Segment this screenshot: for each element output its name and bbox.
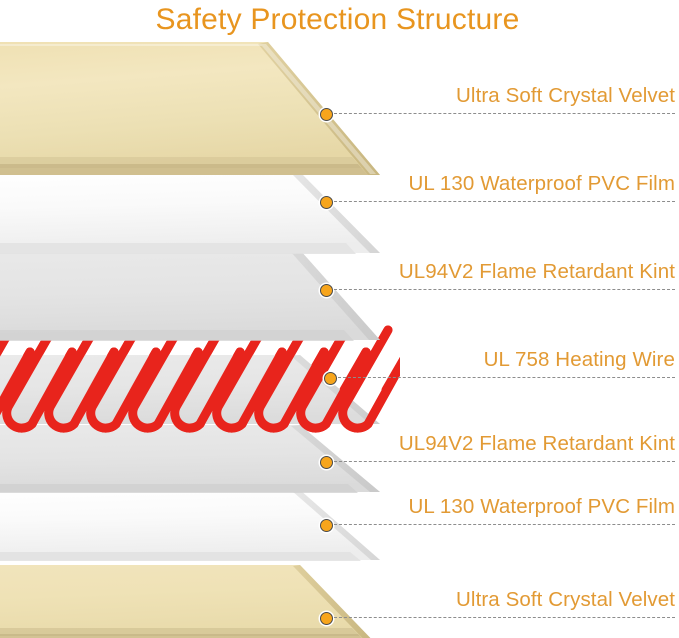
callout-label-3: UL 758 Heating Wire [484,348,675,372]
callout-label-4: UL94V2 Flame Retardant Kint [399,432,675,456]
callout-dot-0[interactable] [320,108,333,121]
callout-dot-1[interactable] [320,196,333,209]
callout-label-0: Ultra Soft Crystal Velvet [456,84,675,108]
callout-label-2: UL94V2 Flame Retardant Kint [399,260,675,284]
safety-protection-structure-diagram: Safety Protection Structure Ultra Soft C… [0,0,679,638]
callout-label-6: Ultra Soft Crystal Velvet [456,588,675,612]
callout-dot-5[interactable] [320,519,333,532]
callout-dash-line-2 [334,289,675,290]
callout-dash-line-3 [338,377,675,378]
callout-dot-3[interactable] [324,372,337,385]
layer-heating-wire [0,330,408,428]
callout-dot-2[interactable] [320,284,333,297]
callout-dash-line-0 [334,113,675,114]
layer-slab-pvc-top [0,172,380,254]
layer-slab-velvet-bottom [0,565,380,638]
callout-label-1: UL 130 Waterproof PVC Film [408,172,675,196]
layer-heating-wire-overlay [0,330,408,428]
layer-slab-knit-middle [0,355,380,424]
callout-dash-line-5 [334,524,675,525]
callout-dash-line-1 [334,201,675,202]
page-title: Safety Protection Structure [0,0,679,40]
callout-label-5: UL 130 Waterproof PVC Film [408,495,675,519]
callout-dash-line-6 [334,617,675,618]
callout-dash-line-4 [334,461,675,462]
callout-dot-6[interactable] [320,612,333,625]
callout-dot-4[interactable] [320,456,333,469]
